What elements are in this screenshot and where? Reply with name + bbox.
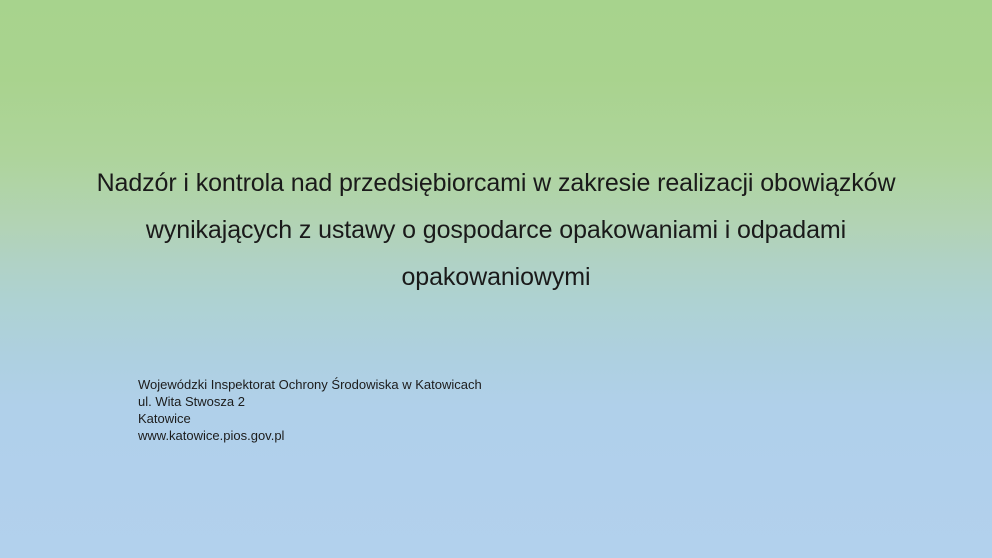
address-line-website: www.katowice.pios.gov.pl [138, 427, 482, 444]
title-line-1: Nadzór i kontrola nad przedsiębiorcami w… [0, 160, 992, 207]
title-line-2: wynikających z ustawy o gospodarce opako… [0, 207, 992, 254]
slide-title: Nadzór i kontrola nad przedsiębiorcami w… [0, 160, 992, 301]
presentation-slide: Nadzór i kontrola nad przedsiębiorcami w… [0, 0, 992, 558]
organization-address: Wojewódzki Inspektorat Ochrony Środowisk… [138, 376, 482, 444]
address-line-city: Katowice [138, 410, 482, 427]
title-line-3: opakowaniowymi [0, 254, 992, 301]
address-line-street: ul. Wita Stwosza 2 [138, 393, 482, 410]
address-line-organization: Wojewódzki Inspektorat Ochrony Środowisk… [138, 376, 482, 393]
